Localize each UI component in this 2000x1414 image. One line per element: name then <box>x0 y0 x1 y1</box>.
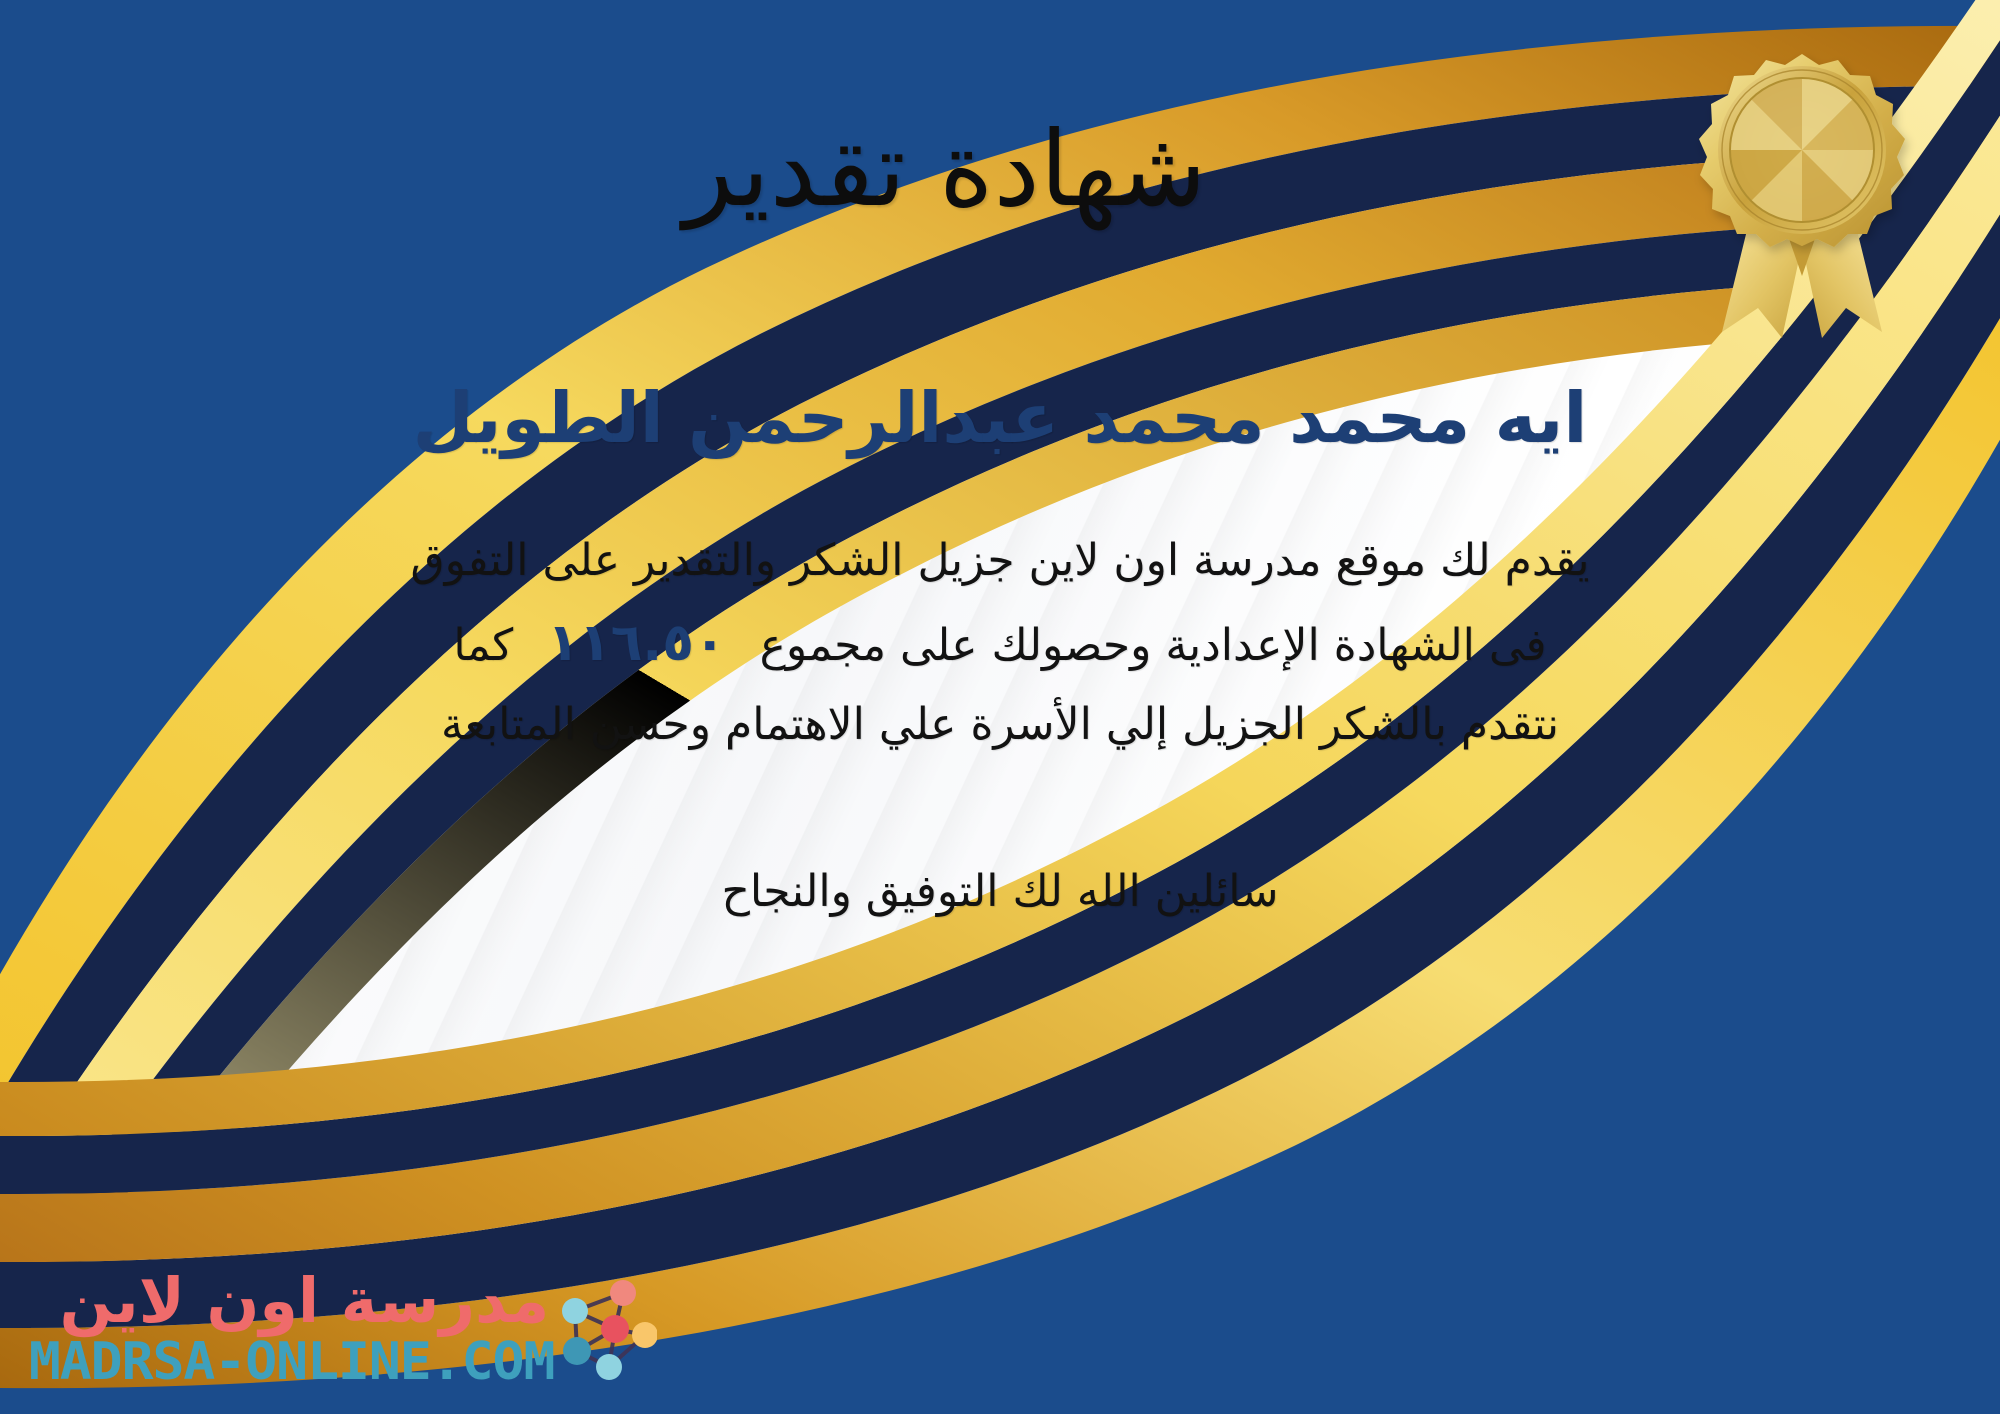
total-score-value: ١١٦.٥٠ <box>513 599 759 687</box>
certificate-canvas: شهادة تقدير ايه محمد محمد عبدالرحمن الطو… <box>0 0 2000 1414</box>
body-line-3: نتقدم بالشكر الجزيل إلي الأسرة علي الاهت… <box>140 688 1860 763</box>
certificate-body: يقدم لك موقع مدرسة اون لاين جزيل الشكر و… <box>0 524 2000 762</box>
certificate-content: شهادة تقدير ايه محمد محمد عبدالرحمن الطو… <box>0 0 2000 917</box>
brand-arabic-name: مدرسة اون لاين <box>34 1270 549 1332</box>
brand-website-url: MADRSA-ONLINE.COM <box>29 1336 555 1388</box>
body-line-2: فى الشهادة الإعدادية وحصولك على مجموع١١٦… <box>140 599 1860 687</box>
recipient-name: ايه محمد محمد عبدالرحمن الطويل <box>0 376 2000 460</box>
brand-text: مدرسة اون لاين MADRSA-ONLINE.COM <box>34 1270 549 1388</box>
network-nodes-icon <box>553 1273 657 1385</box>
brand-logo[interactable]: مدرسة اون لاين MADRSA-ONLINE.COM <box>34 1270 657 1388</box>
closing-wish: سائلين الله لك التوفيق والنجاح <box>0 866 2000 917</box>
body-line-2-prefix: فى الشهادة الإعدادية وحصولك على مجموع <box>760 620 1547 671</box>
certificate-title: شهادة تقدير <box>0 112 2000 226</box>
body-line-1: يقدم لك موقع مدرسة اون لاين جزيل الشكر و… <box>140 524 1860 599</box>
body-line-2-suffix: كما <box>453 620 513 671</box>
